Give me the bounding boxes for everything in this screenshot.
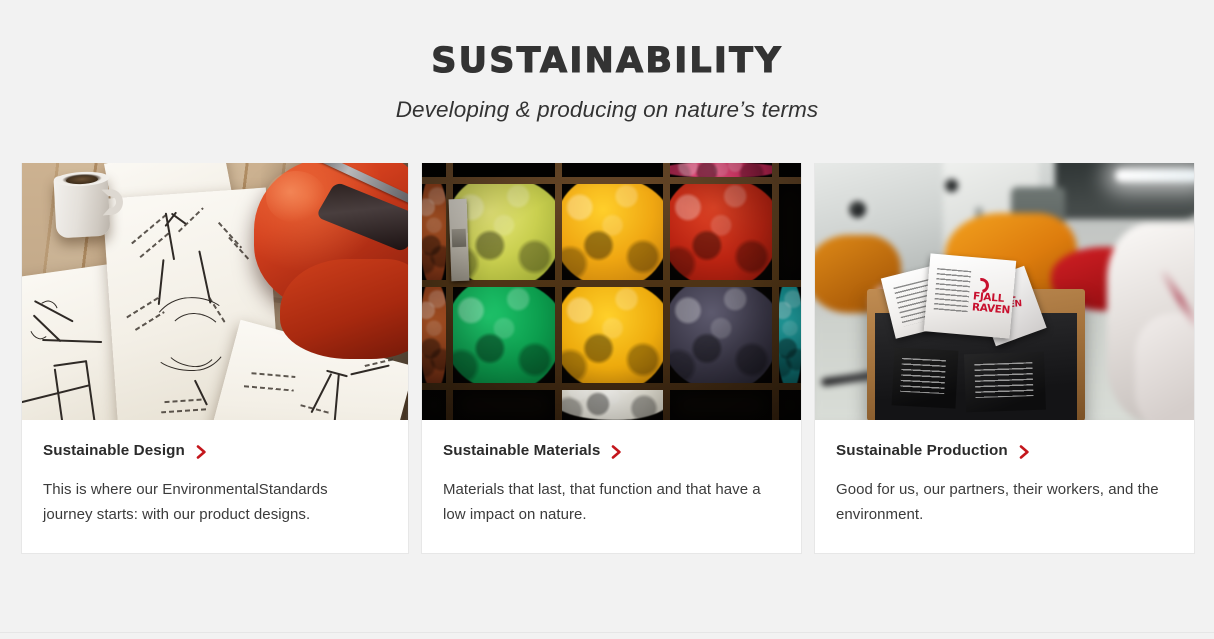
wool-cell xyxy=(422,163,446,177)
card-sustainable-materials[interactable]: Sustainable Materials Materials that las… xyxy=(421,163,802,554)
card-sustainable-design[interactable]: Sustainable Design This is where our Env… xyxy=(21,163,409,554)
bottom-divider xyxy=(0,632,1214,633)
wool-cell xyxy=(453,390,555,420)
sustainable-production-image[interactable]: FJALLRAVEN FJALLRAVEN xyxy=(815,163,1194,420)
card-heading[interactable]: Sustainable Design xyxy=(43,442,388,460)
wool-cell xyxy=(779,390,801,420)
machine-bolt xyxy=(945,179,958,192)
sustainability-card-grid: Sustainable Design This is where our Env… xyxy=(21,163,1195,554)
card-heading-text: Sustainable Materials xyxy=(443,442,600,460)
card-body: Sustainable Production Good for us, our … xyxy=(815,420,1194,553)
page-subtitle: Developing & producing on nature’s terms xyxy=(0,96,1214,124)
card-heading-text: Sustainable Production xyxy=(836,442,1008,460)
sustainable-design-image[interactable] xyxy=(22,163,408,420)
wool-cell xyxy=(779,184,801,280)
card-description: This is where our EnvironmentalStandards… xyxy=(43,478,373,527)
red-jacket-lower xyxy=(280,259,408,359)
sustainability-page: SUSTAINABILITY Developing & producing on… xyxy=(0,0,1214,639)
wool-cell xyxy=(670,163,772,177)
chevron-right-icon[interactable] xyxy=(1019,445,1030,459)
card-description: Good for us, our partners, their workers… xyxy=(836,478,1166,527)
card-body: Sustainable Materials Materials that las… xyxy=(422,420,801,553)
hang-tag-dark xyxy=(964,352,1046,413)
wool-cell xyxy=(453,163,555,177)
wool-cell xyxy=(779,287,801,383)
wool-cell xyxy=(562,287,664,383)
wool-cell xyxy=(779,163,801,177)
wool-cell xyxy=(670,287,772,383)
white-fabric xyxy=(1135,313,1194,420)
sustainable-materials-image[interactable] xyxy=(422,163,801,420)
card-description: Materials that last, that function and t… xyxy=(443,478,773,527)
wool-cell xyxy=(422,287,446,383)
wool-cell xyxy=(562,163,664,177)
wool-cell xyxy=(453,287,555,383)
wool-compartment-grid xyxy=(422,163,801,420)
wool-cell xyxy=(422,184,446,280)
page-header: SUSTAINABILITY Developing & producing on… xyxy=(0,0,1214,124)
wool-label-tag xyxy=(449,199,470,282)
wool-cell xyxy=(670,390,772,420)
chevron-right-icon[interactable] xyxy=(196,445,207,459)
brand-logo-text: FJALLRAVEN xyxy=(972,291,1012,316)
card-heading[interactable]: Sustainable Materials xyxy=(443,442,781,460)
machine-bolt xyxy=(849,201,866,218)
hang-tag-front: FJALLRAVEN xyxy=(924,253,1016,338)
hang-tag-dark xyxy=(892,347,959,408)
chevron-right-icon[interactable] xyxy=(611,445,622,459)
factory-lamp xyxy=(1115,169,1194,182)
wool-cell xyxy=(562,184,664,280)
card-sustainable-production[interactable]: FJALLRAVEN FJALLRAVEN Sustainable Produc… xyxy=(814,163,1195,554)
card-body: Sustainable Design This is where our Env… xyxy=(22,420,408,553)
card-heading-text: Sustainable Design xyxy=(43,442,185,460)
page-title: SUSTAINABILITY xyxy=(0,40,1214,82)
card-heading[interactable]: Sustainable Production xyxy=(836,442,1174,460)
jacket-highlight xyxy=(266,171,326,223)
wool-cell xyxy=(422,390,446,420)
wool-cell xyxy=(670,184,772,280)
wool-cell xyxy=(562,390,664,420)
